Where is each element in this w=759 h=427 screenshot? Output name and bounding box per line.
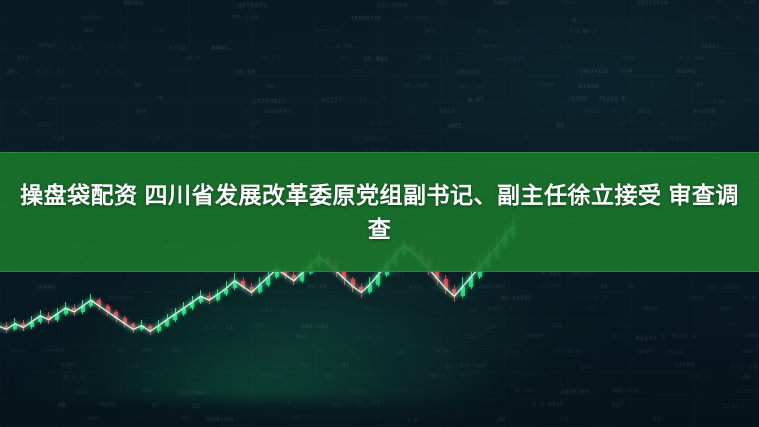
banner-bottom-edge xyxy=(0,271,759,272)
banner-top-edge xyxy=(0,152,759,153)
headline-line-1: 操盘袋配资 四川省发展改革委原党组副书记、副主任徐立接受 xyxy=(20,182,661,208)
page-title: 操盘袋配资 四川省发展改革委原党组副书记、副主任徐立接受 审查调查 xyxy=(0,178,759,246)
headline-banner: 操盘袋配资 四川省发展改革委原党组副书记、副主任徐立接受 审查调查 xyxy=(0,152,759,272)
screenshot-canvas: H676348T683178+38S4724..580423442183I901… xyxy=(0,0,759,427)
